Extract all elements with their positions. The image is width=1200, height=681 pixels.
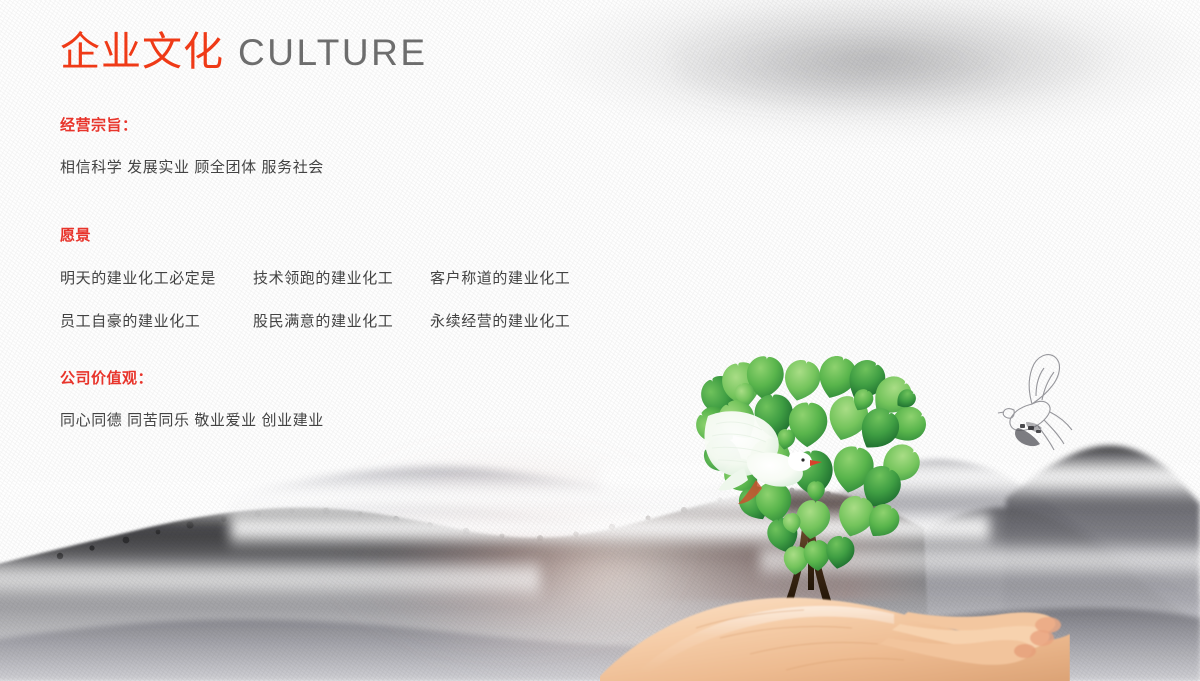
section-body-purpose: 相信科学 发展实业 顾全团体 服务社会	[60, 160, 324, 175]
section-heading-values: 公司价值观：	[60, 371, 324, 386]
vision-item: 永续经营的建业化工	[430, 314, 570, 329]
vision-item: 技术领跑的建业化工	[253, 271, 430, 286]
page-title: 企业文化 CULTURE	[60, 32, 428, 72]
vision-item-grid: 明天的建业化工必定是 技术领跑的建业化工 客户称道的建业化工 员工自豪的建业化工…	[60, 271, 570, 329]
section-heading-purpose: 经营宗旨：	[60, 118, 324, 133]
section-company-values: 公司价值观： 同心同德 同苦同乐 敬业爱业 创业建业	[60, 371, 324, 428]
vision-item: 客户称道的建业化工	[430, 271, 570, 286]
section-vision: 愿景 明天的建业化工必定是 技术领跑的建业化工 客户称道的建业化工 员工自豪的建…	[60, 228, 570, 329]
section-body-values: 同心同德 同苦同乐 敬业爱业 创业建业	[60, 413, 324, 428]
slide-content: 企业文化 CULTURE 经营宗旨： 相信科学 发展实业 顾全团体 服务社会 愿…	[0, 0, 1200, 681]
culture-slide: 企业文化 CULTURE 经营宗旨： 相信科学 发展实业 顾全团体 服务社会 愿…	[0, 0, 1200, 681]
page-title-en: CULTURE	[238, 34, 428, 71]
vision-item: 股民满意的建业化工	[253, 314, 430, 329]
section-heading-vision: 愿景	[60, 228, 570, 243]
page-title-cn: 企业文化	[60, 32, 224, 72]
section-business-purpose: 经营宗旨： 相信科学 发展实业 顾全团体 服务社会	[60, 118, 324, 175]
vision-item: 明天的建业化工必定是	[60, 271, 253, 286]
vision-item: 员工自豪的建业化工	[60, 314, 253, 329]
